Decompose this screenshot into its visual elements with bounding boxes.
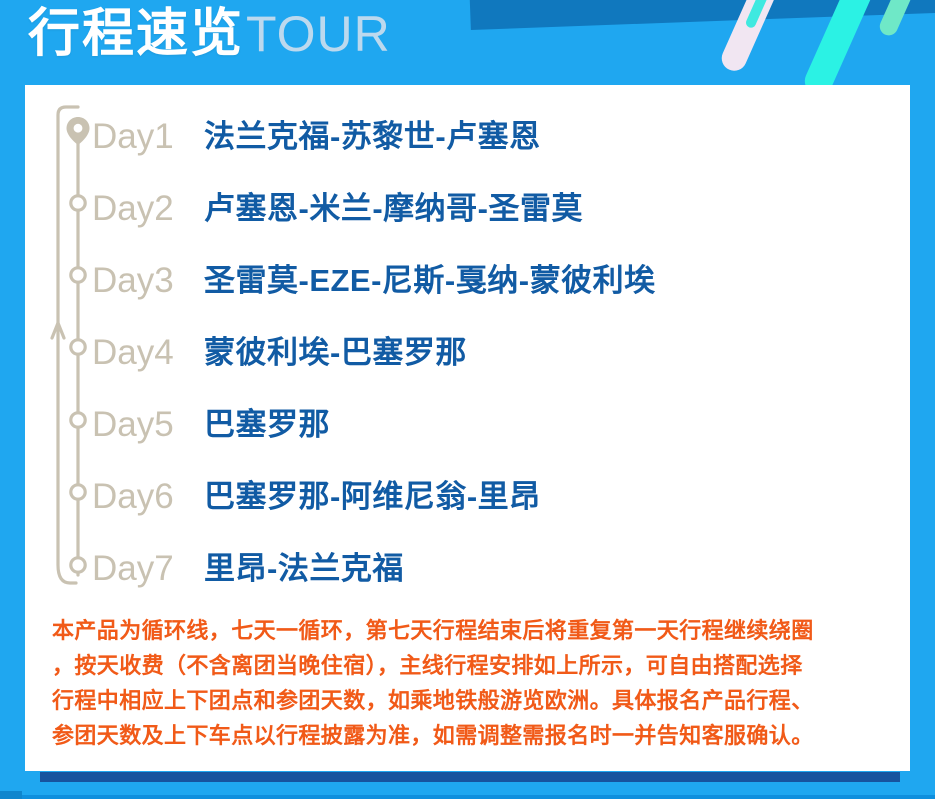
day-route: 巴塞罗那-阿维尼翁-里昂 bbox=[204, 481, 541, 512]
list-item[interactable]: Day6 巴塞罗那-阿维尼翁-里昂 bbox=[92, 460, 892, 532]
timeline-node-day3 bbox=[71, 268, 85, 282]
day-route: 圣雷莫-EZE-尼斯-戛纳-蒙彼利埃 bbox=[204, 265, 656, 296]
day-route: 里昂-法兰克福 bbox=[204, 553, 404, 584]
list-item[interactable]: Day2 卢塞恩-米兰-摩纳哥-圣雷莫 bbox=[92, 172, 892, 244]
card-bottom-bar bbox=[40, 772, 900, 782]
list-item[interactable]: Day1 法兰克福-苏黎世-卢塞恩 bbox=[92, 100, 892, 172]
tour-itinerary-page: 行程速览 TOUR Day1 法兰克福-苏黎世-卢塞恩 Day2 卢塞恩-米兰 bbox=[0, 0, 935, 799]
timeline-node-day7 bbox=[71, 558, 85, 572]
day-label: Day5 bbox=[92, 407, 204, 442]
day-label: Day6 bbox=[92, 479, 204, 514]
list-item[interactable]: Day7 里昂-法兰克福 bbox=[92, 532, 892, 604]
day-route: 蒙彼利埃-巴塞罗那 bbox=[204, 337, 467, 368]
day-route: 法兰克福-苏黎世-卢塞恩 bbox=[204, 121, 541, 152]
disclaimer-line: ，按天收费（不含离团当晚住宿），主线行程安排如上所示，可自由搭配选择 bbox=[52, 648, 892, 683]
page-title: 行程速览 TOUR bbox=[28, 8, 391, 60]
timeline-node-day2 bbox=[71, 196, 85, 210]
day-label: Day4 bbox=[92, 335, 204, 370]
page-title-en: TOUR bbox=[246, 9, 391, 59]
map-pin-hole-icon bbox=[74, 124, 83, 133]
disclaimer-line: 本产品为循环线，七天一循环，第七天行程结束后将重复第一天行程继续绕圈 bbox=[52, 613, 892, 648]
timeline-node-day4 bbox=[71, 340, 85, 354]
list-item[interactable]: Day5 巴塞罗那 bbox=[92, 388, 892, 460]
timeline-node-day6 bbox=[71, 485, 85, 499]
disclaimer-note: 本产品为循环线，七天一循环，第七天行程结束后将重复第一天行程继续绕圈 ，按天收费… bbox=[52, 613, 892, 753]
page-title-cn: 行程速览 bbox=[28, 8, 244, 60]
day-label: Day7 bbox=[92, 551, 204, 586]
itinerary-day-list: Day1 法兰克福-苏黎世-卢塞恩 Day2 卢塞恩-米兰-摩纳哥-圣雷莫 Da… bbox=[92, 100, 892, 604]
list-item[interactable]: Day3 圣雷莫-EZE-尼斯-戛纳-蒙彼利埃 bbox=[92, 244, 892, 316]
list-item[interactable]: Day4 蒙彼利埃-巴塞罗那 bbox=[92, 316, 892, 388]
day-route: 巴塞罗那 bbox=[204, 409, 330, 440]
day-label: Day1 bbox=[92, 119, 204, 154]
day-label: Day2 bbox=[92, 191, 204, 226]
bottom-left-tab bbox=[0, 791, 22, 799]
timeline-loop-graphic bbox=[48, 95, 96, 595]
bottom-edge-line bbox=[22, 795, 935, 799]
timeline-node-day5 bbox=[71, 413, 85, 427]
disclaimer-line: 参团天数及上下车点以行程披露为准，如需调整需报名时一并告知客服确认。 bbox=[52, 718, 892, 753]
day-label: Day3 bbox=[92, 263, 204, 298]
disclaimer-line: 行程中相应上下团点和参团天数，如乘地铁般游览欧洲。具体报名产品行程、 bbox=[52, 683, 892, 718]
day-route: 卢塞恩-米兰-摩纳哥-圣雷莫 bbox=[204, 193, 583, 224]
